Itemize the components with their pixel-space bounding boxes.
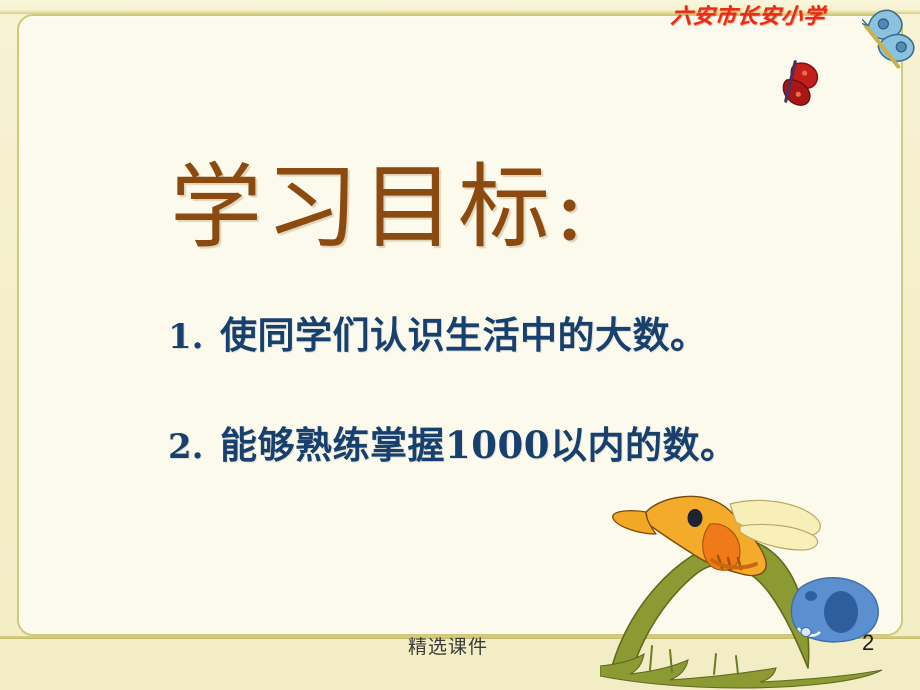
- list-item: 2. 能够熟练掌握1000以内的数。: [168, 415, 828, 469]
- list-item: 1. 使同学们认识生活中的大数。: [168, 305, 828, 359]
- list-item-text: 能够熟练掌握1000以内的数。: [220, 415, 737, 469]
- footer-label: 精选课件: [348, 632, 548, 659]
- objectives-list: 1. 使同学们认识生活中的大数。 2. 能够熟练掌握1000以内的数。: [168, 305, 828, 525]
- page-number: 2: [862, 630, 892, 656]
- school-name-header: 六安市长安小学: [646, 2, 849, 32]
- list-item-number: 1.: [168, 317, 220, 357]
- list-item-text: 使同学们认识生活中的大数。: [220, 305, 708, 359]
- page-title: 学习目标:: [170, 152, 790, 264]
- list-item-number: 2.: [168, 427, 220, 467]
- slide-canvas: 六安市长安小学 学习目标: 1. 使同学们认识生活中的大数。 2. 能够熟练掌握…: [0, 0, 920, 690]
